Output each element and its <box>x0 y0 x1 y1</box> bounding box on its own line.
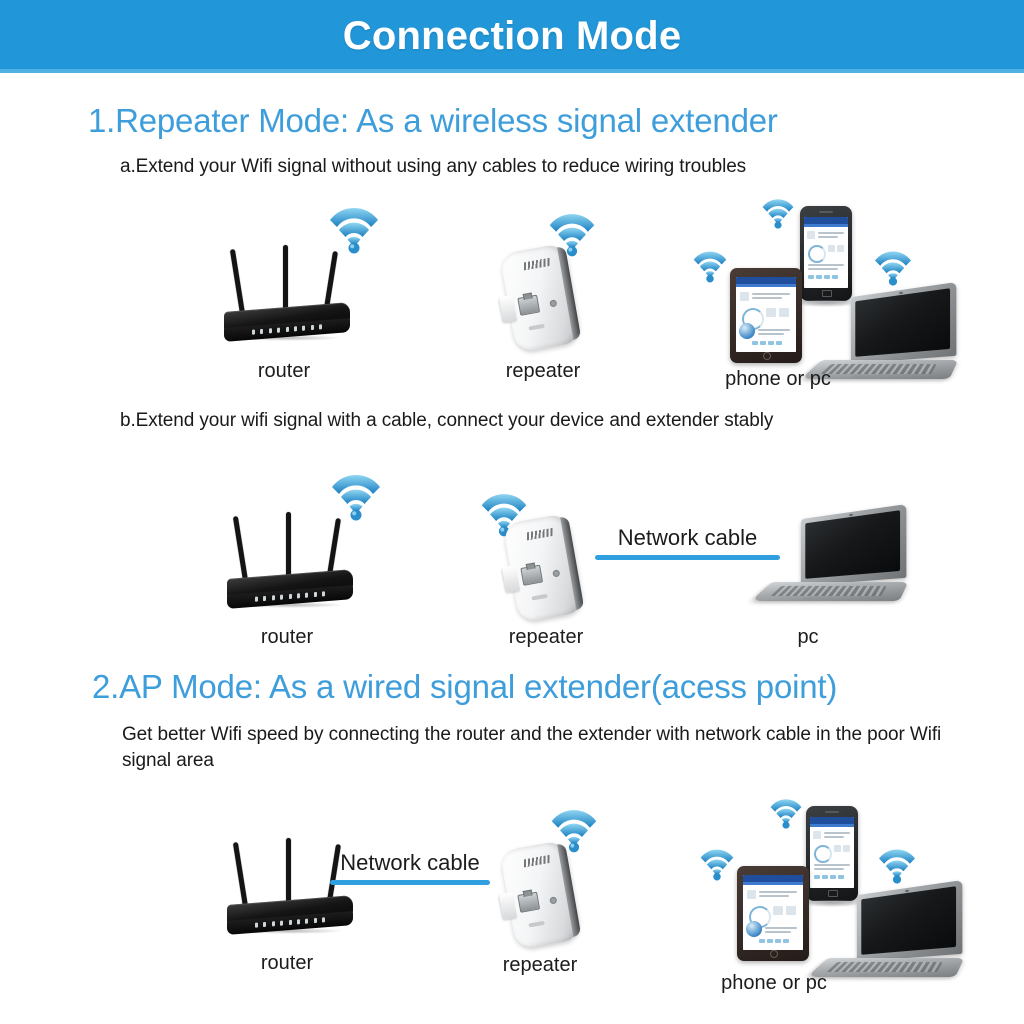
laptop-screen <box>861 886 956 955</box>
laptop-device <box>812 290 962 398</box>
repeater-device <box>497 512 592 628</box>
wifi-icon <box>760 198 796 229</box>
wifi-icon <box>691 250 729 283</box>
laptop-keyboard <box>771 586 887 596</box>
laptop-base <box>807 958 964 977</box>
laptop-keyboard <box>821 364 937 374</box>
laptop-keyboard <box>827 962 943 972</box>
tablet-screen <box>736 277 796 352</box>
ap-mode-description: Get better Wifi speed by connecting the … <box>122 722 952 773</box>
page-header: Connection Mode <box>0 0 1024 73</box>
device-label-repeater: repeater <box>503 954 578 977</box>
router-antenna <box>233 842 248 908</box>
laptop-trackpad <box>858 973 887 976</box>
router-antenna <box>230 249 245 315</box>
router-device <box>225 510 355 610</box>
laptop-screen <box>855 288 950 357</box>
router-antenna <box>286 512 291 582</box>
laptop-trackpad <box>852 375 881 378</box>
device-label-router: router <box>261 626 313 649</box>
phone-screen <box>810 817 854 888</box>
router-shadow <box>233 928 345 934</box>
network-cable-connector: Network cable <box>330 850 490 885</box>
section-heading-ap-mode: 2.AP Mode: As a wired signal extender(ac… <box>92 668 837 706</box>
wifi-icon <box>698 848 736 881</box>
wifi-icon <box>768 798 804 829</box>
tablet-screen-content <box>743 875 803 950</box>
device-label-repeater: repeater <box>506 360 581 383</box>
phone-screen-content <box>810 817 854 888</box>
laptop-device <box>818 888 968 996</box>
network-cable-line <box>330 880 490 885</box>
tablet-device <box>737 866 809 961</box>
device-label-pc: pc <box>797 626 818 649</box>
repeater-mode-item-b: b.Extend your wifi signal with a cable, … <box>120 410 773 432</box>
page-title: Connection Mode <box>343 14 682 59</box>
repeater-ethernet-port <box>517 295 540 316</box>
phone-screen-content <box>804 217 848 288</box>
device-label-router: router <box>261 952 313 975</box>
wifi-icon <box>872 250 914 286</box>
tablet-screen-content <box>736 277 796 352</box>
laptop-device <box>762 512 912 620</box>
network-cable-line <box>595 555 780 560</box>
phone-device <box>800 206 852 301</box>
network-cable-connector: Network cable <box>595 525 780 560</box>
network-cable-label: Network cable <box>330 850 490 876</box>
network-cable-label: Network cable <box>595 525 780 551</box>
router-shadow <box>233 602 345 608</box>
repeater-ethernet-port <box>517 892 540 913</box>
section-heading-repeater-mode: 1.Repeater Mode: As a wireless signal ex… <box>88 102 778 140</box>
repeater-device <box>494 242 589 358</box>
router-antenna <box>233 516 248 582</box>
connection-mode-infographic: Connection Mode 1.Repeater Mode: As a wi… <box>0 0 1024 1024</box>
router-antenna <box>283 245 288 315</box>
wifi-icon <box>876 848 918 884</box>
phone-speaker <box>825 811 839 813</box>
laptop-lid <box>851 282 956 364</box>
repeater-device <box>494 839 589 955</box>
device-label-phone-or-pc: phone or pc <box>725 368 831 391</box>
phone-speaker <box>819 211 833 213</box>
repeater-mode-item-a: a.Extend your Wifi signal without using … <box>120 156 746 178</box>
tablet-screen <box>743 875 803 950</box>
laptop-screen <box>805 510 900 579</box>
device-label-router: router <box>258 360 310 383</box>
tablet-home-button <box>770 950 778 958</box>
device-label-repeater: repeater <box>509 626 584 649</box>
laptop-trackpad <box>802 597 831 600</box>
tablet-home-button <box>763 352 771 360</box>
device-label-phone-or-pc: phone or pc <box>721 972 827 995</box>
laptop-base <box>751 582 908 601</box>
laptop-lid <box>801 504 906 586</box>
phone-screen <box>804 217 848 288</box>
tablet-device <box>730 268 802 363</box>
router-shadow <box>230 335 342 341</box>
repeater-ethernet-port <box>520 565 543 586</box>
phone-device <box>806 806 858 901</box>
router-device <box>222 243 352 343</box>
laptop-lid <box>857 880 962 962</box>
router-antenna <box>286 838 291 908</box>
